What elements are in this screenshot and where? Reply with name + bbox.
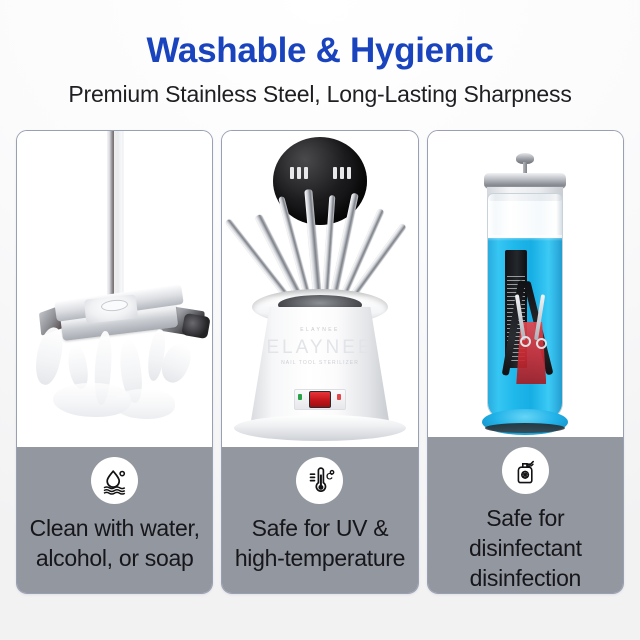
lid-vent-slot xyxy=(297,167,301,179)
clipper-dark-grip xyxy=(181,313,210,339)
sterilizer-base xyxy=(234,415,406,441)
disinfectant-jar xyxy=(428,131,623,437)
jar-glass-body xyxy=(487,193,563,419)
scissor-ring xyxy=(536,338,547,349)
jar-base-rim xyxy=(485,423,565,433)
scissors xyxy=(522,294,556,350)
sterilizer-brand-top-text: ELAYNEE xyxy=(222,327,417,333)
page-title: Washable & Hygienic xyxy=(0,30,640,72)
lid-vent-slot xyxy=(333,167,337,179)
product-photo-disinfectant-jar xyxy=(428,131,623,437)
feature-caption-band: Clean with water, alcohol, or soap xyxy=(17,447,212,593)
feature-caption-text: Safe for disinfectant disinfection xyxy=(428,503,623,593)
sterilizer-device: ELAYNEE ELAYNEE NAIL TOOL STERILIZER xyxy=(222,131,417,447)
product-photo-sterilizer: ELAYNEE ELAYNEE NAIL TOOL STERILIZER xyxy=(222,131,417,447)
header: Washable & Hygienic Premium Stainless St… xyxy=(0,0,640,108)
thermometer-icon: C xyxy=(296,457,343,504)
page-subtitle: Premium Stainless Steel, Long-Lasting Sh… xyxy=(0,80,640,108)
water-splash xyxy=(113,389,175,419)
water-drop-icon xyxy=(91,457,138,504)
sterilizer-brand-text: ELAYNEE xyxy=(222,337,417,359)
spray-bottle-icon xyxy=(502,447,549,494)
lid-vent-slot xyxy=(340,167,344,179)
sterilizer-model-text: NAIL TOOL STERILIZER xyxy=(222,360,417,366)
feature-card-disinfectant[interactable]: Safe for disinfectant disinfection xyxy=(427,130,624,594)
feature-caption-band: C Safe for UV & high-temperature xyxy=(222,447,417,593)
feature-card-uv-high-temperature[interactable]: ELAYNEE ELAYNEE NAIL TOOL STERILIZER C xyxy=(221,130,418,594)
sterilizer-led-green xyxy=(298,394,302,400)
scissor-blade xyxy=(534,294,545,340)
lid-vent-slot xyxy=(347,167,351,179)
sterilizer-led-red xyxy=(337,394,341,400)
scissor-ring xyxy=(520,336,531,347)
sterilizer-tools-group xyxy=(222,191,417,301)
feature-caption-text: Clean with water, alcohol, or soap xyxy=(17,513,212,573)
feature-caption-band: Safe for disinfectant disinfection xyxy=(428,437,623,593)
sterilizer-power-switch[interactable] xyxy=(309,391,331,408)
feature-card-row: Clean with water, alcohol, or soap xyxy=(16,130,624,594)
lid-vent-slot xyxy=(290,167,294,179)
svg-text:C: C xyxy=(326,471,333,482)
product-photo-clipper-under-water xyxy=(17,131,212,447)
feature-caption-text: Safe for UV & high-temperature xyxy=(222,513,417,573)
lid-vent-slot xyxy=(304,167,308,179)
feature-card-clean-with-water[interactable]: Clean with water, alcohol, or soap xyxy=(16,130,213,594)
